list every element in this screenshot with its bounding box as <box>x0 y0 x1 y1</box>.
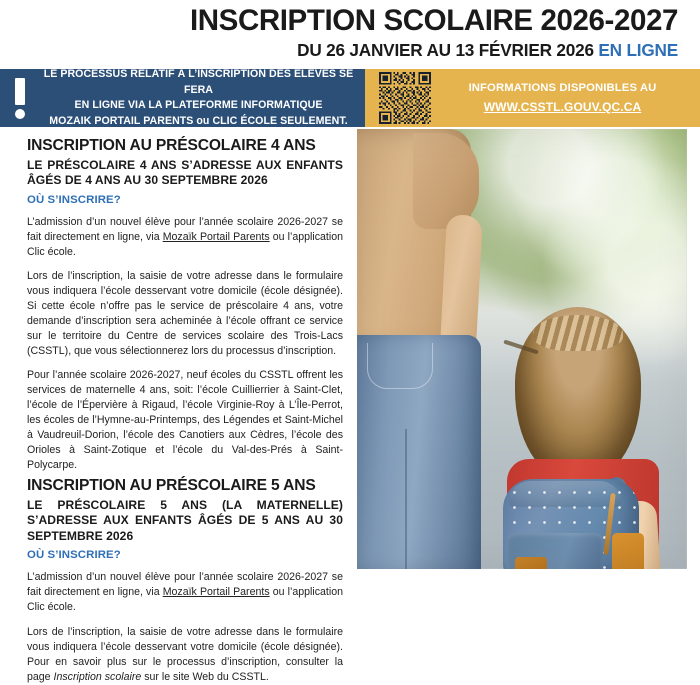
mozaik-portail-parents-link[interactable]: Mozaïk Portail Parents <box>163 586 270 598</box>
section-question-5ans: OÙ S’INSCRIRE? <box>27 549 343 561</box>
page-subtitle: DU 26 JANVIER AU 13 FÉVRIER 2026 EN LIGN… <box>0 40 678 62</box>
paragraph-4ans-ecoles: Pour l’année scolaire 2026-2027, neuf éc… <box>27 368 343 473</box>
para-text-after: sur le site Web du CSSTL. <box>141 671 269 683</box>
notice-banner-text: LE PROCESSUS RELATIF À L’INSCRIPTION DES… <box>36 67 365 130</box>
content-area: INSCRIPTION AU PRÉSCOLAIRE 4 ANS LE PRÉS… <box>0 127 700 571</box>
info-banner-label: INFORMATIONS DISPONIBLES AU <box>469 82 657 94</box>
section-question-4ans: OÙ S’INSCRIRE? <box>27 194 343 206</box>
section-subtitle-prescolaire-5ans: LE PRÉSCOLAIRE 5 ANS (LA MATERNELLE) S’A… <box>27 498 343 544</box>
subtitle-accent: EN LIGNE <box>598 40 678 60</box>
text-column: INSCRIPTION AU PRÉSCOLAIRE 4 ANS LE PRÉS… <box>0 127 355 571</box>
exclamation-mark-icon <box>6 78 36 119</box>
page-title: INSCRIPTION SCOLAIRE 2026-2027 <box>0 6 678 37</box>
banner-row: LE PROCESSUS RELATIF À L’INSCRIPTION DES… <box>0 69 700 127</box>
paragraph-4ans-adresse: Lors de l’inscription, la saisie de votr… <box>27 269 343 359</box>
photo-column <box>355 127 700 571</box>
paragraph-4ans-admission: L’admission d’un nouvel élève pour l’ann… <box>27 215 343 260</box>
paragraph-5ans-admission: L’admission d’un nouvel élève pour l’ann… <box>27 570 343 615</box>
section-title-prescolaire-4ans: INSCRIPTION AU PRÉSCOLAIRE 4 ANS <box>27 137 343 156</box>
info-banner-url[interactable]: WWW.CSSTL.GOUV.QC.CA <box>439 98 686 118</box>
qr-code-icon[interactable] <box>377 72 433 124</box>
info-banner-text: INFORMATIONS DISPONIBLES AU WWW.CSSTL.GO… <box>433 79 700 117</box>
mozaik-portail-parents-link[interactable]: Mozaïk Portail Parents <box>163 231 270 243</box>
section-title-prescolaire-5ans: INSCRIPTION AU PRÉSCOLAIRE 5 ANS <box>27 477 343 496</box>
adult-and-child-walking-with-backpack-photo <box>357 129 687 569</box>
page-header: INSCRIPTION SCOLAIRE 2026-2027 DU 26 JAN… <box>0 0 700 65</box>
notice-line-2: EN LIGNE VIA LA PLATEFORME INFORMATIQUE <box>36 98 361 114</box>
notice-banner: LE PROCESSUS RELATIF À L’INSCRIPTION DES… <box>0 69 365 127</box>
section-subtitle-prescolaire-4ans: LE PRÉSCOLAIRE 4 ANS S’ADRESSE AUX ENFAN… <box>27 158 343 189</box>
info-banner: INFORMATIONS DISPONIBLES AU WWW.CSSTL.GO… <box>365 69 700 127</box>
inscription-scolaire-italic: Inscription scolaire <box>54 671 142 683</box>
notice-line-1: LE PROCESSUS RELATIF À L’INSCRIPTION DES… <box>36 67 361 98</box>
paragraph-5ans-adresse: Lors de l’inscription, la saisie de votr… <box>27 625 343 685</box>
subtitle-dates: DU 26 JANVIER AU 13 FÉVRIER 2026 <box>297 40 598 60</box>
